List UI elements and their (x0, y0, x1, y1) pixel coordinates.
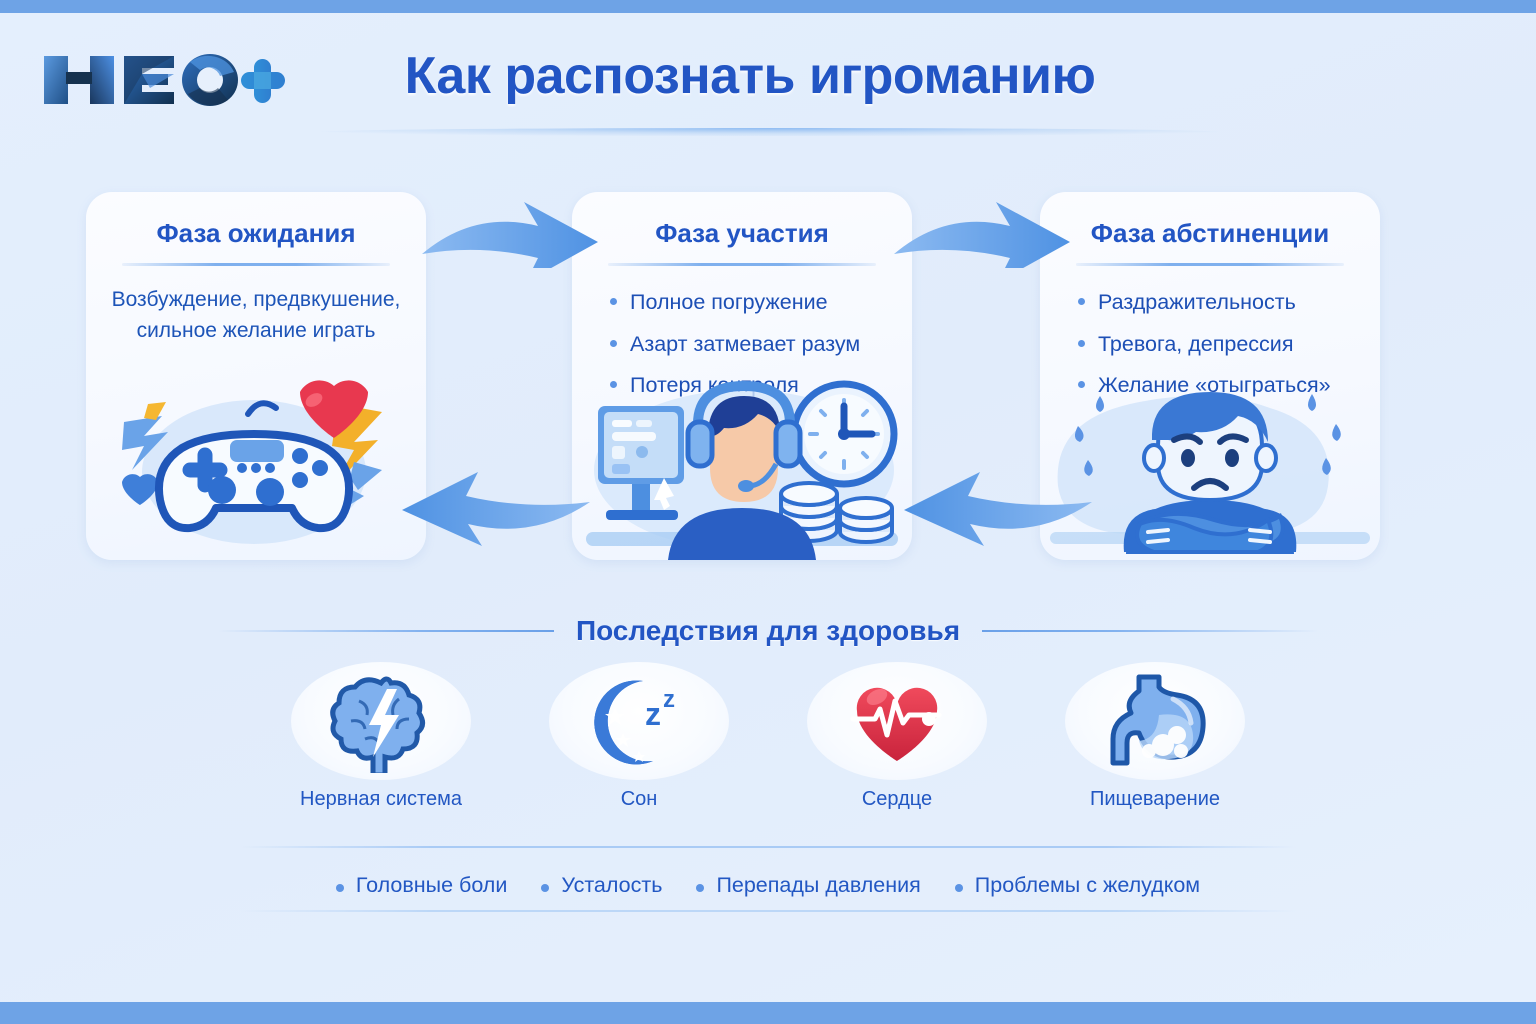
title-divider (320, 128, 1220, 136)
health-consequences-row: Нервная система z z Сон (0, 662, 1536, 838)
health-item-heart[interactable]: Сердце (807, 662, 987, 838)
icon-blob (1065, 662, 1245, 780)
phase-card-involvement[interactable]: Фаза участия Полное погружение Азарт зат… (572, 192, 912, 560)
phase-title: Фаза участия (572, 218, 912, 249)
phase-title: Фаза ожидания (86, 218, 426, 249)
card-divider (122, 263, 390, 266)
section-title: Последствия для здоровья (576, 615, 960, 647)
phase-card-anticipation[interactable]: Фаза ожидания Возбуждение, предвкушение,… (86, 192, 426, 560)
symptoms-divider-bottom (240, 910, 1296, 912)
health-item-sleep[interactable]: z z Сон (549, 662, 729, 838)
moon-zzz-icon: z z (587, 669, 691, 773)
card-divider (1076, 263, 1344, 266)
neo-plus-logo (38, 42, 288, 114)
health-label: Сердце (807, 788, 987, 811)
list-item: Полное погружение (608, 286, 912, 319)
icon-blob (291, 662, 471, 780)
gamepad-with-hearts-and-lightning-icon (86, 374, 426, 554)
health-label: Пищеварение (1065, 788, 1245, 811)
svg-text:z: z (645, 696, 661, 732)
top-edge-bar (0, 0, 1536, 13)
health-label: Сон (549, 788, 729, 811)
symptom-item: Головные боли (336, 873, 507, 898)
phase-description: Возбуждение, предвкушение, сильное желан… (106, 284, 406, 346)
heading-divider-right (982, 630, 1318, 632)
heart-pulse-icon (845, 669, 949, 773)
page-title: Как распознать игроманию (350, 46, 1150, 106)
arrow-right-icon (890, 198, 1074, 268)
brain-icon (329, 669, 433, 773)
symptom-item: Перепады давления (696, 873, 920, 898)
infographic-page: Как распознать игроманию Фаза ожидания В… (0, 0, 1536, 1024)
health-label: Нервная система (291, 788, 471, 811)
icon-blob: z z (549, 662, 729, 780)
arrow-left-icon (398, 472, 594, 546)
health-item-nervous-system[interactable]: Нервная система (291, 662, 471, 838)
health-item-digestion[interactable]: Пищеварение (1065, 662, 1245, 838)
consequences-heading: Последствия для здоровья (0, 608, 1536, 654)
list-item: Тревога, депрессия (1076, 328, 1380, 361)
list-item: Раздражительность (1076, 286, 1380, 319)
symptoms-row: Головные боли Усталость Перепады давлени… (0, 862, 1536, 908)
symptom-item: Усталость (541, 873, 662, 898)
icon-blob (807, 662, 987, 780)
phase-cards: Фаза ожидания Возбуждение, предвкушение,… (0, 192, 1536, 562)
arrow-left-icon (900, 472, 1096, 546)
symptom-item: Проблемы с желудком (955, 873, 1200, 898)
svg-text:z: z (663, 686, 675, 713)
arrow-right-icon (418, 198, 602, 268)
stomach-icon (1103, 669, 1207, 773)
list-item: Азарт затмевает разум (608, 328, 912, 361)
card-divider (608, 263, 876, 266)
bottom-edge-bar (0, 1002, 1536, 1024)
heading-divider-left (218, 630, 554, 632)
gamer-with-headset-monitor-clock-coins-icon (572, 374, 912, 560)
phase-title: Фаза абстиненции (1040, 218, 1380, 249)
symptoms-divider-top (240, 846, 1296, 848)
